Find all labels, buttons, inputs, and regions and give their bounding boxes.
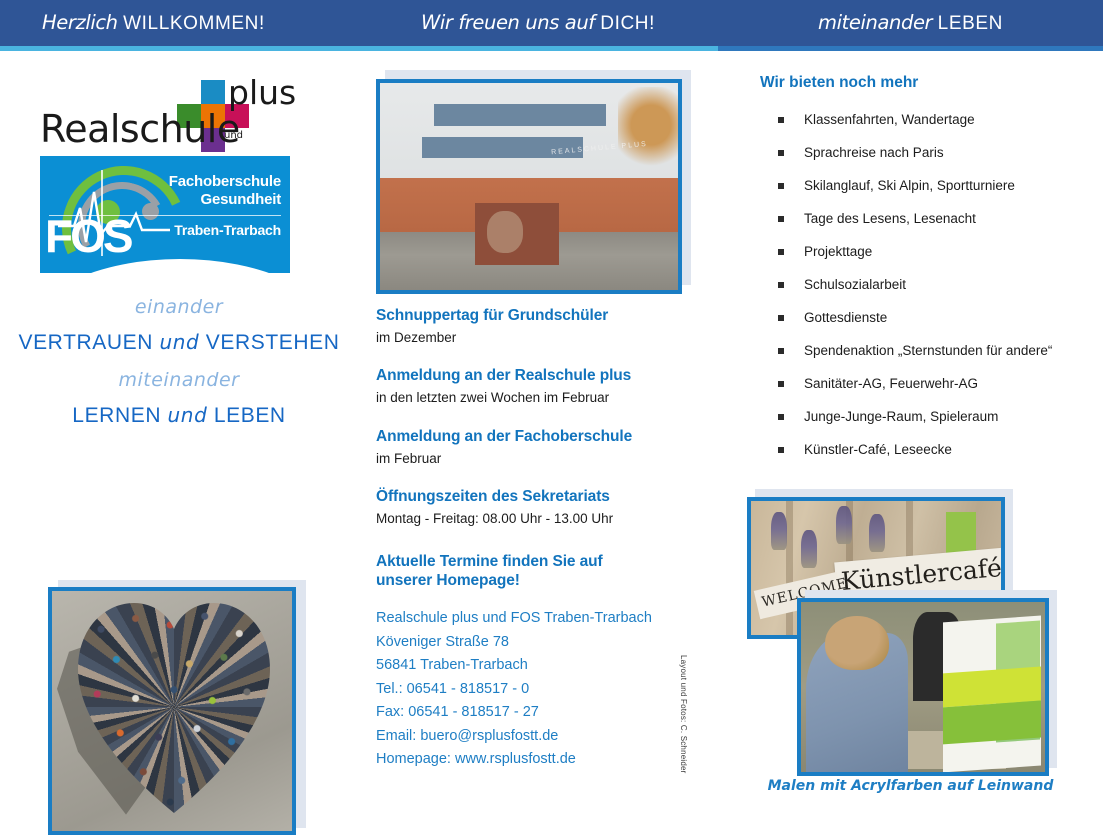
list-item: Sanitäter-AG, Feuerwehr-AG <box>778 377 1098 392</box>
bullet-icon <box>778 282 784 288</box>
list-item: Sprachreise nach Paris <box>778 146 1098 161</box>
list-item: Spendenaktion „Sternstunden für andere“ <box>778 344 1098 359</box>
slogan-block: einander VERTRAUEN und VERSTEHEN miteina… <box>0 296 358 442</box>
fos-line3: Traben-Trarbach <box>174 222 281 238</box>
info-block: Öffnungszeiten des Sekretariats Montag -… <box>376 487 706 527</box>
info-sub: im Februar <box>376 450 706 468</box>
column-left: Realschule plus und FOS Fachoberschule G… <box>0 51 358 808</box>
info-sub: im Dezember <box>376 329 706 347</box>
list-item-label: Klassenfahrten, Wandertage <box>804 112 975 127</box>
logo-und-word: und <box>224 130 243 141</box>
column-right: Wir bieten noch mehr Klassenfahrten, Wan… <box>718 51 1103 808</box>
slogan-verstehen: VERSTEHEN <box>206 331 340 354</box>
info-heading: Schnuppertag für Grundschüler <box>376 306 706 326</box>
painting-photo-child-hair <box>825 616 888 670</box>
info-sub: Montag - Freitag: 08.00 Uhr - 13.00 Uhr <box>376 510 706 528</box>
bullet-icon <box>778 315 784 321</box>
list-item-label: Sprachreise nach Paris <box>804 145 944 160</box>
page-header: Herzlich WILLKOMMEN! Wir freuen uns auf … <box>0 0 1103 46</box>
list-item-label: Skilanglauf, Ski Alpin, Sportturniere <box>804 178 1015 193</box>
list-item-label: Projekttage <box>804 244 872 259</box>
building-photo-mural-face <box>487 211 523 252</box>
bullet-icon <box>778 216 784 222</box>
slogan-line-lernen: LERNEN und LEBEN <box>0 403 358 428</box>
list-item-label: Sanitäter-AG, Feuerwehr-AG <box>804 376 978 391</box>
lavender-bunch-icon <box>869 514 885 552</box>
info-block: Anmeldung an der Realschule plus in den … <box>376 366 706 406</box>
slogan-line-miteinander: miteinander <box>0 369 358 391</box>
logo-square-top-icon <box>201 80 225 104</box>
list-item-label: Schulsozialarbeit <box>804 277 906 292</box>
bullet-icon <box>778 348 784 354</box>
header-cell-welcome: Herzlich WILLKOMMEN! <box>0 0 358 46</box>
painting-photo-caption: Malen mit Acrylfarben auf Leinwand <box>718 778 1103 794</box>
kuenstlercafe-plank <box>786 501 793 635</box>
list-item-label: Tage des Lesens, Lesenacht <box>804 211 976 226</box>
header-middle-script: Wir freuen uns auf <box>421 11 595 34</box>
info-heading: Anmeldung an der Fachoberschule <box>376 427 706 447</box>
header-right-plain: LEBEN <box>938 13 1003 34</box>
list-item: Künstler-Café, Leseecke <box>778 443 1098 458</box>
slogan-und-1: und <box>159 330 199 354</box>
info-heading: Anmeldung an der Realschule plus <box>376 366 706 386</box>
logo-plus-word: plus <box>228 76 296 109</box>
building-photo-tree <box>618 87 682 182</box>
photo-credit: Layout und Fotos: C. Schneider <box>679 655 688 774</box>
offerings-list: Klassenfahrten, Wandertage Sprachreise n… <box>778 113 1098 476</box>
bullet-icon <box>778 414 784 420</box>
building-photo: REALSCHULE PLUS <box>376 79 682 294</box>
list-item: Klassenfahrten, Wandertage <box>778 113 1098 128</box>
bullet-icon <box>778 249 784 255</box>
slogan-lernen: LERNEN <box>72 404 161 427</box>
info-block: Schnuppertag für Grundschüler im Dezembe… <box>376 306 706 346</box>
header-welcome-plain: WILLKOMMEN! <box>123 13 265 34</box>
middle-text-block: Schnuppertag für Grundschüler im Dezembe… <box>376 306 706 772</box>
homepage-heading-block: Aktuelle Termine finden Sie auf unserer … <box>376 552 706 592</box>
header-cell-middle: Wir freuen uns auf DICH! <box>358 0 718 46</box>
homepage-heading-line1: Aktuelle Termine finden Sie auf <box>376 552 706 572</box>
list-item: Gottesdienste <box>778 311 1098 326</box>
slogan-line-vertrauen: VERTRAUEN und VERSTEHEN <box>0 330 358 355</box>
list-item-label: Spendenaktion „Sternstunden für andere“ <box>804 343 1052 358</box>
info-block: Anmeldung an der Fachoberschule im Febru… <box>376 427 706 467</box>
info-heading: Öffnungszeiten des Sekretariats <box>376 487 706 507</box>
logo-school-name: Realschule <box>40 110 240 148</box>
bullet-icon <box>778 381 784 387</box>
fos-letters: FOS <box>45 213 131 259</box>
lavender-bunch-icon <box>771 512 787 550</box>
bullet-icon <box>778 183 784 189</box>
address-line-city: 56841 Traben-Trarbach <box>376 654 706 677</box>
address-line-email[interactable]: Email: buero@rsplusfostt.de <box>376 725 706 748</box>
fos-logo-box: FOS Fachoberschule Gesundheit Traben-Tra… <box>40 156 290 273</box>
address-block: Realschule plus und FOS Traben-Trarbach … <box>376 607 706 771</box>
school-logo: Realschule plus und FOS Fachoberschule G… <box>40 68 310 268</box>
header-welcome-script: Herzlich <box>42 11 118 34</box>
bullet-icon <box>778 117 784 123</box>
address-line-fax: Fax: 06541 - 818517 - 27 <box>376 701 706 724</box>
header-cell-right: miteinander LEBEN <box>718 0 1103 46</box>
header-middle-plain: DICH! <box>600 13 655 34</box>
list-item-label: Junge-Junge-Raum, Spieleraum <box>804 409 998 424</box>
address-line-street: Köveniger Straße 78 <box>376 631 706 654</box>
list-item-label: Künstler-Café, Leseecke <box>804 442 952 457</box>
homepage-heading-line2: unserer Homepage! <box>376 571 706 591</box>
address-line-homepage[interactable]: Homepage: www.rsplusfostt.de <box>376 748 706 771</box>
bullet-icon <box>778 150 784 156</box>
list-item: Schulsozialarbeit <box>778 278 1098 293</box>
bullet-icon <box>778 447 784 453</box>
heart-photo <box>48 587 296 835</box>
header-right-script: miteinander <box>818 11 932 34</box>
slogan-vertrauen: VERTRAUEN <box>18 331 153 354</box>
lavender-bunch-icon <box>836 506 852 544</box>
slogan-leben: LEBEN <box>214 404 286 427</box>
list-item: Skilanglauf, Ski Alpin, Sportturniere <box>778 179 1098 194</box>
info-sub: in den letzten zwei Wochen im Februar <box>376 389 706 407</box>
slogan-und-2: und <box>168 403 208 427</box>
list-item: Projekttage <box>778 245 1098 260</box>
column-middle: REALSCHULE PLUS Schnuppertag für Grundsc… <box>358 51 718 808</box>
painting-photo-canvas-green-light <box>996 621 1040 672</box>
address-line-school: Realschule plus und FOS Traben-Trarbach <box>376 607 706 630</box>
list-item: Junge-Junge-Raum, Spieleraum <box>778 410 1098 425</box>
fos-line2: Gesundheit <box>200 191 281 208</box>
list-item-label: Gottesdienste <box>804 310 887 325</box>
offerings-heading: Wir bieten noch mehr <box>760 74 918 92</box>
painting-photo <box>797 598 1049 776</box>
building-window-row-1 <box>434 104 607 127</box>
list-item: Tage des Lesens, Lesenacht <box>778 212 1098 227</box>
slogan-line-einander: einander <box>0 296 358 318</box>
address-line-phone: Tel.: 06541 - 818517 - 0 <box>376 678 706 701</box>
lavender-bunch-icon <box>801 530 817 568</box>
painting-photo-canvas-green-dark <box>943 701 1041 745</box>
fos-line1: Fachoberschule <box>169 173 281 190</box>
